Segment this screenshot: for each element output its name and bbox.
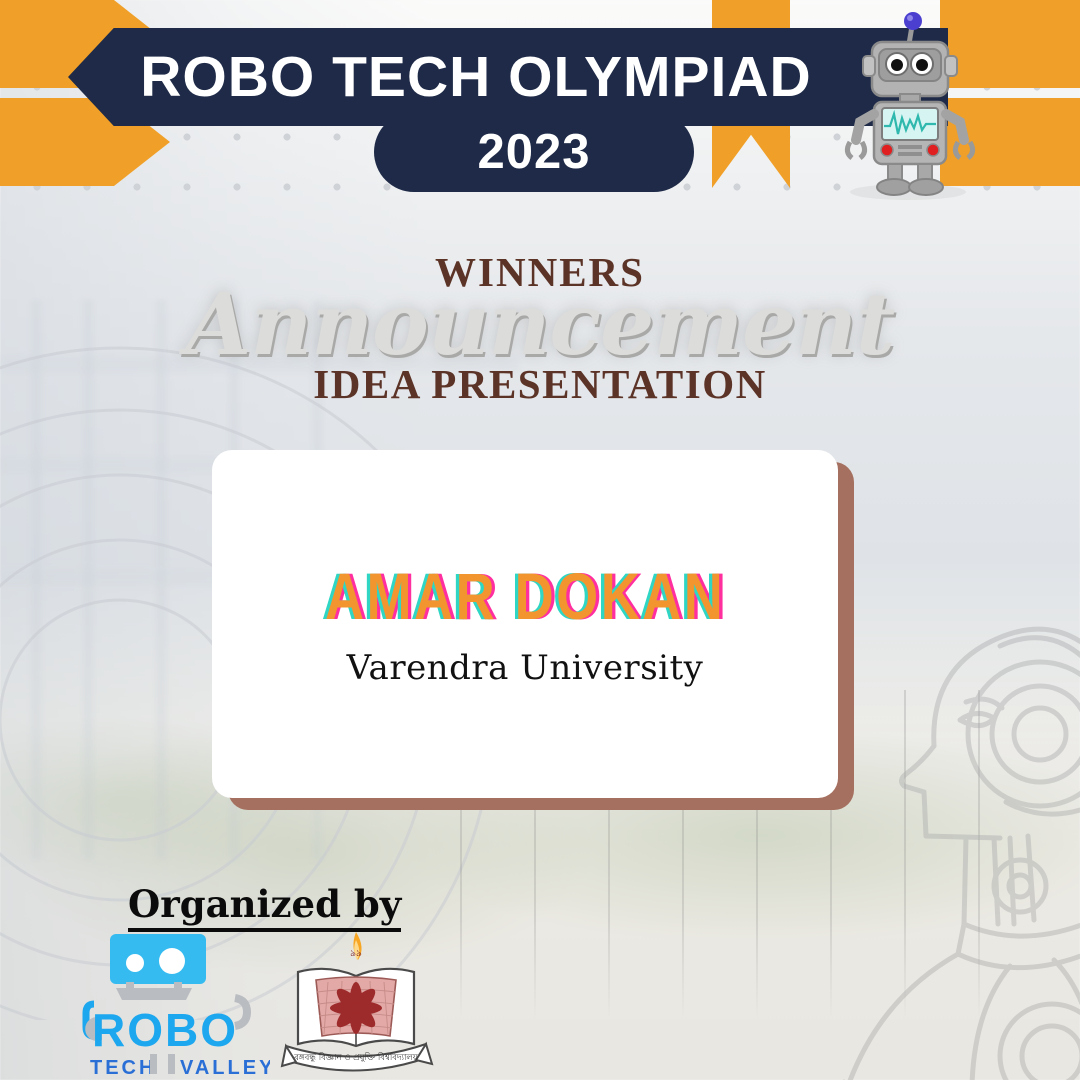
- announcement-headings: WINNERS Announcement IDEA PRESENTATION: [0, 252, 1080, 405]
- page-title: ROBO TECH OLYMPIAD: [110, 44, 905, 110]
- robo-tech-valley-logo: ROBO TECH VALLEY: [80, 930, 270, 1080]
- university-crest-logo: ৯৯ বঙ্গবন্ধু বিজ্ঞান ও প্রযুক্তি বিশ্ববি…: [276, 922, 436, 1080]
- winner-name: AMAR DOKAN: [325, 563, 725, 629]
- svg-text:TECH: TECH: [90, 1057, 156, 1079]
- poster-header: ROBO TECH OLYMPIAD 2023: [0, 0, 1080, 200]
- announcement-script-label: Announcement: [0, 283, 1080, 368]
- organizer-logos: ROBO TECH VALLEY ৯৯: [80, 930, 460, 1080]
- poster-canvas: ROBO TECH OLYMPIAD 2023: [0, 0, 1080, 1080]
- winner-organization: Varendra University: [347, 651, 704, 685]
- svg-text:VALLEY: VALLEY: [180, 1057, 270, 1079]
- svg-text:৯৯: ৯৯: [350, 949, 362, 959]
- event-year-label: 2023: [477, 124, 590, 180]
- crest-ribbon-text: বঙ্গবন্ধু বিজ্ঞান ও প্রযুক্তি বিশ্ববিদ্য…: [293, 1052, 419, 1063]
- robot-bust-outline-icon: [814, 586, 1080, 1080]
- event-year-badge: 2023: [374, 112, 694, 192]
- svg-text:ROBO: ROBO: [92, 1004, 238, 1056]
- category-label: IDEA PRESENTATION: [0, 364, 1080, 405]
- winner-card: AMAR DOKAN Varendra University: [212, 450, 838, 798]
- robot-mascot-icon: [816, 4, 996, 200]
